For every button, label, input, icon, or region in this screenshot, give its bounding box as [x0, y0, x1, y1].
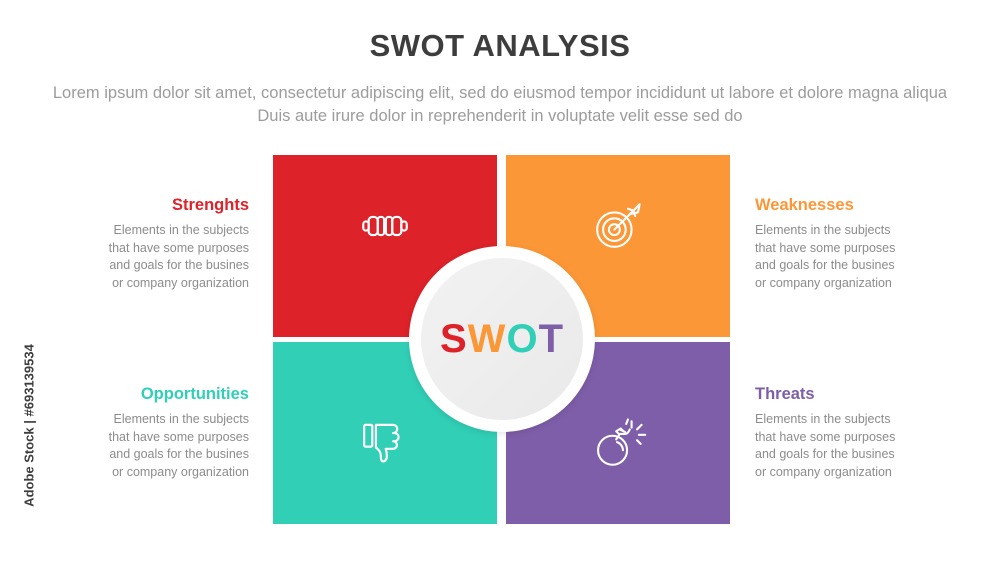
page-subtitle: Lorem ipsum dolor sit amet, consectetur … — [50, 82, 950, 128]
center-circle: SWOT — [409, 246, 595, 432]
label-strengths-heading: Strenghts — [44, 196, 249, 215]
center-circle-inner: SWOT — [421, 258, 583, 420]
label-opportunities: Opportunities Elements in the subjects t… — [44, 385, 249, 481]
target-arrow-icon — [589, 197, 647, 255]
swot-letter-s: S — [440, 317, 468, 362]
label-threats: Threats Elements in the subjects that ha… — [755, 385, 960, 481]
swot-infographic: SWOT ANALYSIS Lorem ipsum dolor sit amet… — [0, 0, 1000, 563]
label-weaknesses-body: Elements in the subjects that have some … — [755, 222, 960, 292]
swot-letter-o: O — [506, 317, 538, 362]
swot-acronym: SWOT — [440, 317, 564, 362]
swot-letter-w: W — [468, 317, 507, 362]
dumbbell-icon — [356, 197, 414, 255]
label-threats-heading: Threats — [755, 385, 960, 404]
label-weaknesses: Weaknesses Elements in the subjects that… — [755, 196, 960, 292]
label-weaknesses-heading: Weaknesses — [755, 196, 960, 215]
page-title: SWOT ANALYSIS — [0, 28, 1000, 64]
label-strengths: Strenghts Elements in the subjects that … — [44, 196, 249, 292]
label-strengths-body: Elements in the subjects that have some … — [44, 222, 249, 292]
swot-letter-t: T — [539, 317, 564, 362]
stock-watermark: Adobe Stock | #693139534 — [22, 301, 37, 551]
label-opportunities-heading: Opportunities — [44, 385, 249, 404]
label-threats-body: Elements in the subjects that have some … — [755, 411, 960, 481]
bomb-icon — [589, 414, 647, 472]
thumbs-down-icon — [356, 414, 414, 472]
label-opportunities-body: Elements in the subjects that have some … — [44, 411, 249, 481]
